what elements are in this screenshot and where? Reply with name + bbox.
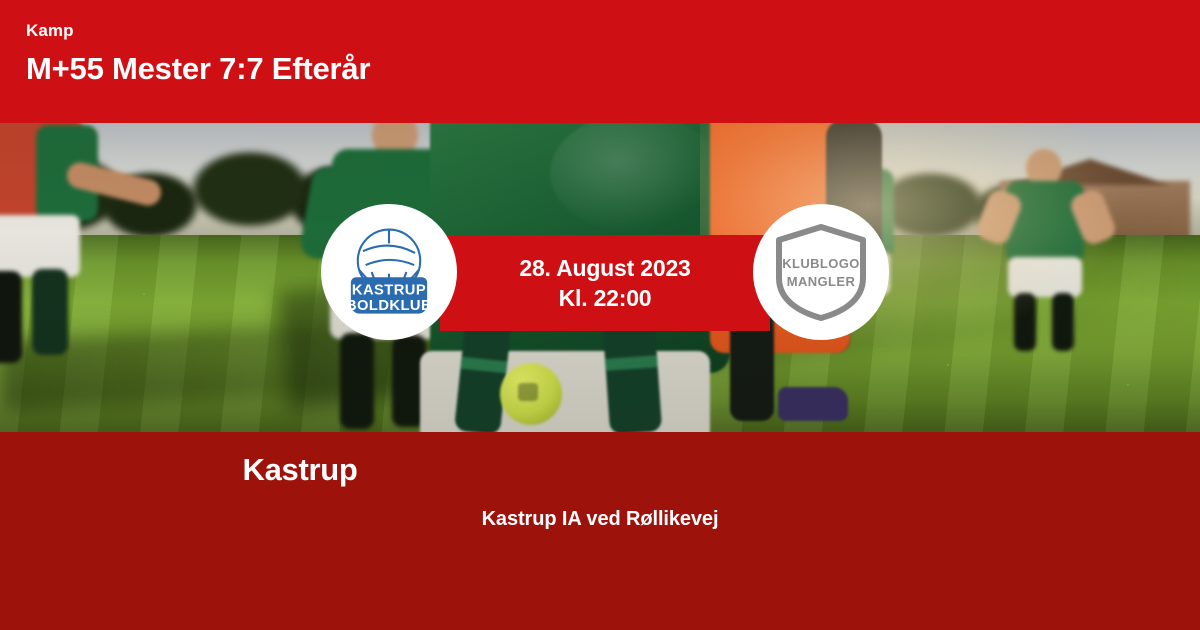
home-team-badge[interactable]: KASTRUP BOLDKLUB xyxy=(321,204,457,340)
home-team-name: Kastrup xyxy=(0,450,815,490)
player-left-red xyxy=(0,123,100,329)
away-team-badge[interactable]: KLUBLOGO MANGLER xyxy=(753,204,889,340)
away-placeholder-line2: MANGLER xyxy=(787,274,856,289)
poster-header: Kamp M+55 Mester 7:7 Efterår xyxy=(0,0,1200,123)
match-poster: Kamp M+55 Mester 7:7 Efterår xyxy=(0,0,1200,630)
match-date-banner: 28. August 2023 Kl. 22:00 xyxy=(440,235,770,331)
missing-club-logo-icon: KLUBLOGO MANGLER xyxy=(773,222,869,322)
team-names-row: Kastrup Oversidder xyxy=(0,450,1200,490)
poster-bottom: Kastrup Oversidder Kastrup IA ved Røllik… xyxy=(0,432,1200,630)
match-date: 28. August 2023 xyxy=(519,253,690,283)
kastrup-boldklub-logo-icon: KASTRUP BOLDKLUB xyxy=(337,220,441,324)
home-logo-text-bottom: BOLDKLUB xyxy=(346,298,432,314)
header-eyebrow: Kamp xyxy=(26,20,1200,42)
football-ball xyxy=(500,363,562,425)
away-team-name: Oversidder xyxy=(815,450,1200,490)
page-title: M+55 Mester 7:7 Efterår xyxy=(26,50,1200,88)
away-placeholder-line1: KLUBLOGO xyxy=(782,256,860,271)
home-logo-text-top: KASTRUP xyxy=(352,283,426,299)
match-time: Kl. 22:00 xyxy=(559,283,652,313)
match-venue: Kastrup IA ved Røllikevej xyxy=(0,508,1200,531)
